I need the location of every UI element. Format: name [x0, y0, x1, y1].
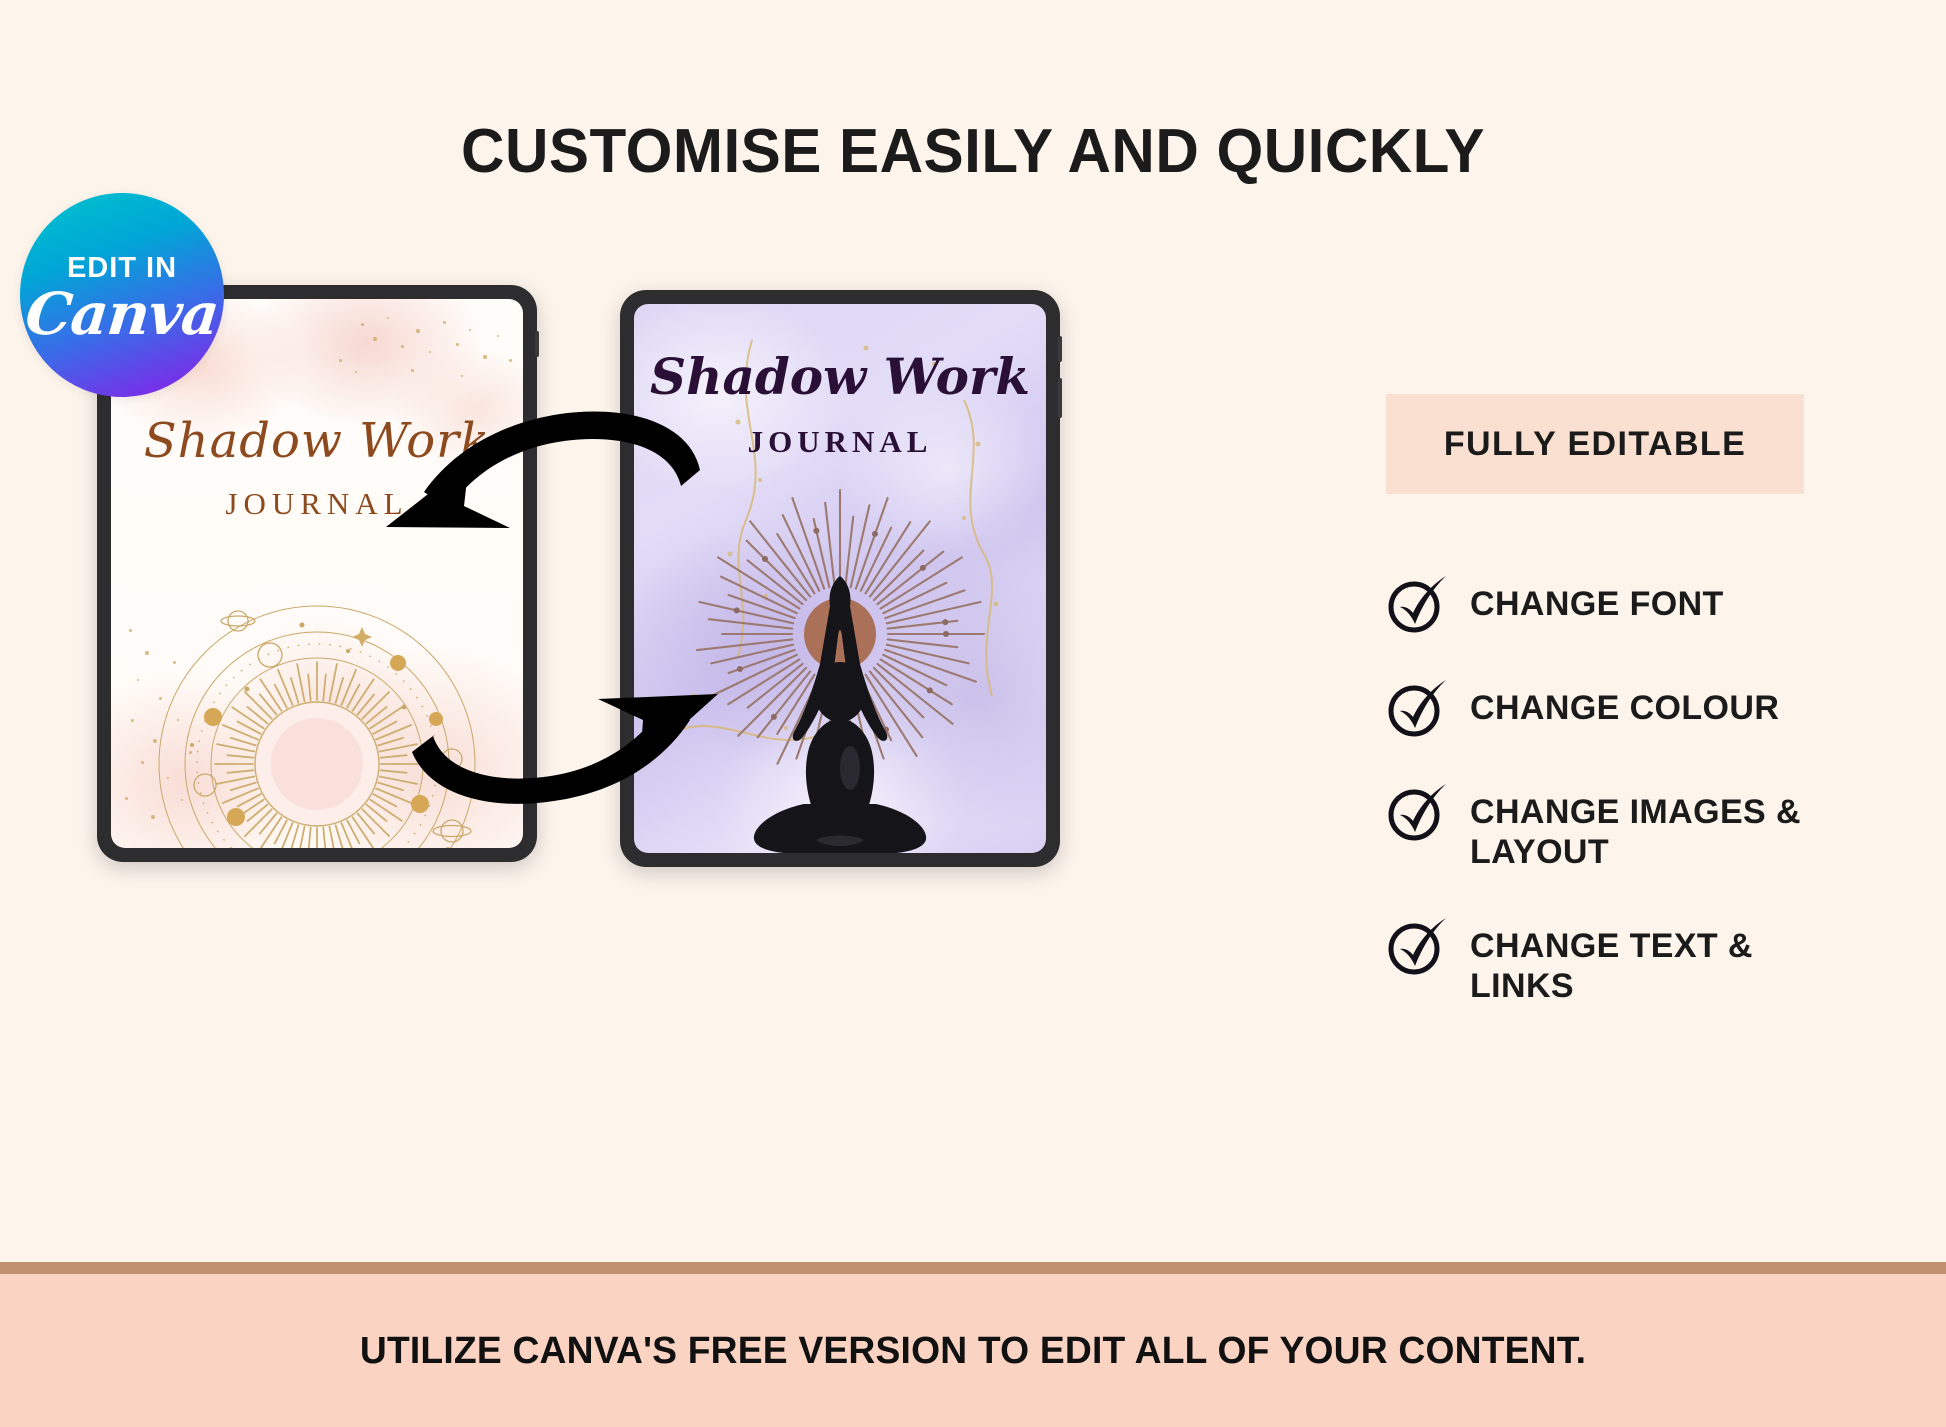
checklist-label: CHANGE FONT [1470, 578, 1724, 624]
celestial-sun-mandala-icon [152, 599, 482, 848]
checklist-item-change-colour[interactable]: CHANGE COLOUR [1386, 682, 1906, 738]
cover-right-title: Shadow Work [634, 352, 1046, 402]
page-title: CUSTOMISE EASILY AND QUICKLY [29, 116, 1917, 187]
footer-text: UTILIZE CANVA'S FREE VERSION TO EDIT ALL… [19, 1330, 1926, 1373]
tablet-left-side-button [535, 331, 539, 357]
tablet-right-screen: Shadow Work JOURNAL [634, 304, 1046, 853]
tablet-right-side-button-1 [1058, 336, 1062, 362]
fully-editable-banner: FULLY EDITABLE [1386, 394, 1804, 494]
checklist-label: CHANGE COLOUR [1470, 682, 1779, 728]
cover-left-subtitle: JOURNAL [111, 486, 523, 522]
fully-editable-label: FULLY EDITABLE [1444, 425, 1746, 464]
checklist-item-change-font[interactable]: CHANGE FONT [1386, 578, 1906, 634]
cover-right-subtitle: JOURNAL [634, 424, 1046, 460]
canva-badge-wordmark: Canva [23, 285, 221, 343]
check-circle-icon [1386, 916, 1448, 976]
tablet-right[interactable]: Shadow Work JOURNAL [620, 290, 1060, 867]
check-circle-icon [1386, 678, 1448, 738]
tablet-right-side-button-2 [1058, 378, 1062, 418]
checklist-item-change-images-layout[interactable]: CHANGE IMAGES & LAYOUT [1386, 786, 1906, 872]
feature-checklist: CHANGE FONT CHANGE COLOUR CHANGE IMAGES … [1386, 578, 1906, 1054]
yoga-meditation-silhouette-icon [720, 572, 960, 853]
footer-divider [0, 1262, 1946, 1274]
journal-cover-lavender: Shadow Work JOURNAL [634, 304, 1046, 853]
canva-badge-edit-in-label: EDIT IN [67, 254, 177, 283]
checklist-label: CHANGE IMAGES & LAYOUT [1470, 786, 1830, 872]
check-circle-icon [1386, 574, 1448, 634]
promo-canvas: CUSTOMISE EASILY AND QUICKLY EDIT IN Can… [0, 0, 1946, 1427]
edit-in-canva-badge[interactable]: EDIT IN Canva [20, 193, 224, 397]
checklist-label: CHANGE TEXT & LINKS [1470, 920, 1770, 1006]
check-circle-icon [1386, 782, 1448, 842]
tablet-right-bezel: Shadow Work JOURNAL [634, 304, 1046, 853]
checklist-item-change-text-links[interactable]: CHANGE TEXT & LINKS [1386, 920, 1906, 1006]
cover-left-title: Shadow Work [111, 417, 523, 465]
